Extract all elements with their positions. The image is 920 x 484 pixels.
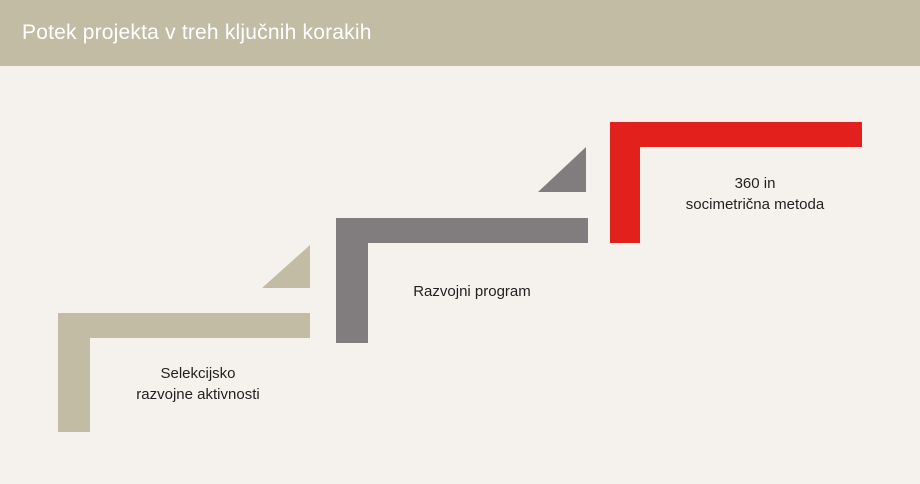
- step-1-label-line-2: razvojne aktivnosti: [98, 384, 298, 405]
- step-3-horizontal-bar: [610, 122, 862, 147]
- infographic-canvas: Potek projekta v treh ključnih korakih S…: [0, 0, 920, 484]
- step-1-arrow-icon: [262, 245, 310, 288]
- step-3-label-line-1: 360 in: [655, 173, 855, 194]
- step-2-label: Razvojni program: [372, 281, 572, 302]
- step-1-label-line-1: Selekcijsko: [98, 363, 298, 384]
- header-bar: Potek projekta v treh ključnih korakih: [0, 0, 920, 66]
- step-1-label: Selekcijsko razvojne aktivnosti: [98, 363, 298, 405]
- step-2-horizontal-bar: [336, 218, 588, 243]
- step-1-horizontal-bar: [58, 313, 310, 338]
- step-3-label-line-2: socimetrična metoda: [655, 194, 855, 215]
- step-3-label: 360 in socimetrična metoda: [655, 173, 855, 215]
- step-3-vertical-bar: [610, 147, 640, 243]
- step-2-label-line-1: Razvojni program: [372, 281, 572, 302]
- step-2-arrow-icon: [538, 147, 586, 192]
- step-2-vertical-bar: [336, 243, 368, 343]
- step-1-vertical-bar: [58, 338, 90, 432]
- page-title: Potek projekta v treh ključnih korakih: [22, 20, 372, 46]
